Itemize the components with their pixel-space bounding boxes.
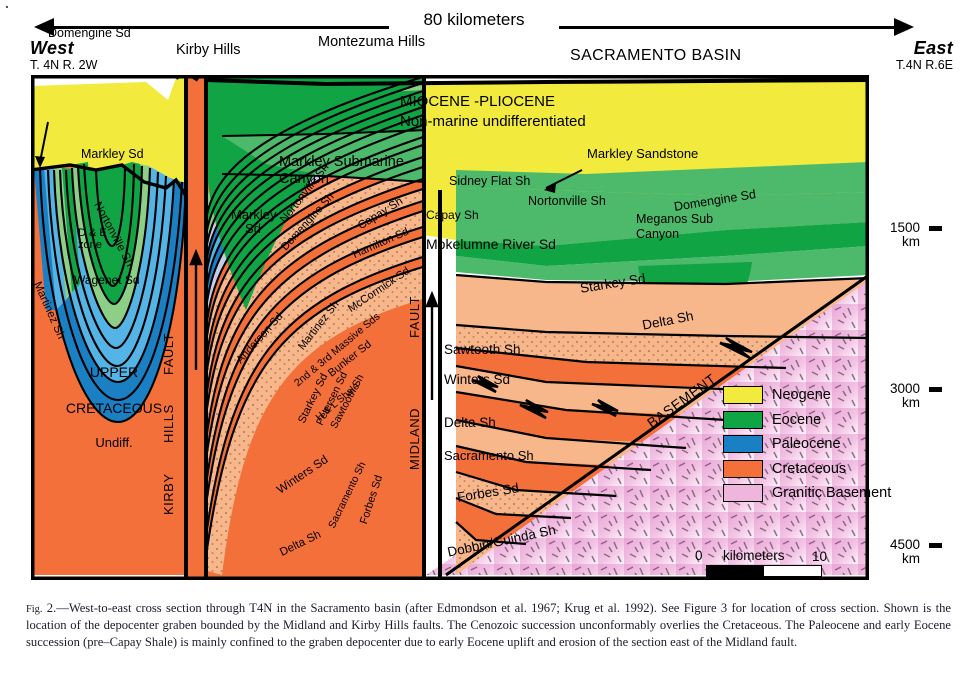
legend-label-paleocene: Paleocene bbox=[772, 436, 841, 452]
legend-item-eocene: Eocene bbox=[723, 408, 891, 433]
cross-section-figure bbox=[26, 70, 948, 585]
figure-caption: Fig. 2.—West-to-east cross section throu… bbox=[26, 600, 951, 651]
arrow-right-head-icon bbox=[894, 18, 914, 36]
legend-label-eocene: Eocene bbox=[772, 412, 821, 428]
legend-swatch-eocene bbox=[723, 411, 763, 429]
scalebar-empty-half bbox=[764, 566, 821, 576]
legend-swatch-granitic-basement bbox=[723, 484, 763, 502]
legend-item-granitic-basement: Granitic Basement bbox=[723, 481, 891, 506]
legend-label-cretaceous: Cretaceous bbox=[772, 461, 846, 477]
sacramento-basin-annotation: SACRAMENTO BASIN bbox=[570, 47, 741, 65]
scalebar-min: 0 bbox=[695, 548, 703, 563]
legend-label-granitic-basement: Granitic Basement bbox=[772, 485, 891, 501]
depth-tick-mark-4500 bbox=[929, 543, 942, 548]
legend-swatch-neogene bbox=[723, 386, 763, 404]
caption-body: 2.—West-to-east cross section through T4… bbox=[26, 601, 951, 649]
depth-tick-3000: 3000 km bbox=[860, 382, 920, 410]
caption-fig-prefix: Fig. bbox=[26, 604, 42, 615]
scale-arrow: 80 kilometers bbox=[34, 14, 914, 36]
legend-swatch-cretaceous bbox=[723, 460, 763, 478]
east-direction: East T.4N R.6E bbox=[896, 38, 953, 72]
legend-item-cretaceous: Cretaceous bbox=[723, 457, 891, 482]
legend-label-neogene: Neogene bbox=[772, 387, 831, 403]
west-direction: West T. 4N R. 2W bbox=[30, 38, 97, 72]
scalebar-unit: kilometers bbox=[723, 548, 785, 563]
legend-swatch-paleocene bbox=[723, 435, 763, 453]
kirby-hills-annotation: Kirby Hills bbox=[176, 42, 240, 58]
scalebar-graphic bbox=[706, 565, 822, 577]
page-corner-dot bbox=[6, 6, 8, 8]
east-label: East bbox=[896, 38, 953, 59]
legend-item-paleocene: Paleocene bbox=[723, 432, 891, 457]
west-label: West bbox=[30, 38, 97, 59]
depth-tick-1500: 1500 km bbox=[860, 221, 920, 249]
depth-tick-4500: 4500 km bbox=[860, 538, 920, 566]
depth-tick-mark-3000 bbox=[929, 387, 942, 392]
arrow-left-head-icon bbox=[34, 18, 54, 36]
montezuma-hills-annotation: Montezuma Hills bbox=[318, 34, 425, 50]
distance-scalebar: 0 kilometers 10 bbox=[697, 548, 825, 577]
scalebar-max: 10 bbox=[812, 549, 827, 564]
scalebar-filled-half bbox=[707, 566, 764, 576]
depth-tick-mark-1500 bbox=[929, 226, 942, 231]
figure-page: 80 kilometers West T. 4N R. 2W East T.4N… bbox=[0, 0, 975, 685]
scale-length-label: 80 kilometers bbox=[389, 10, 559, 30]
